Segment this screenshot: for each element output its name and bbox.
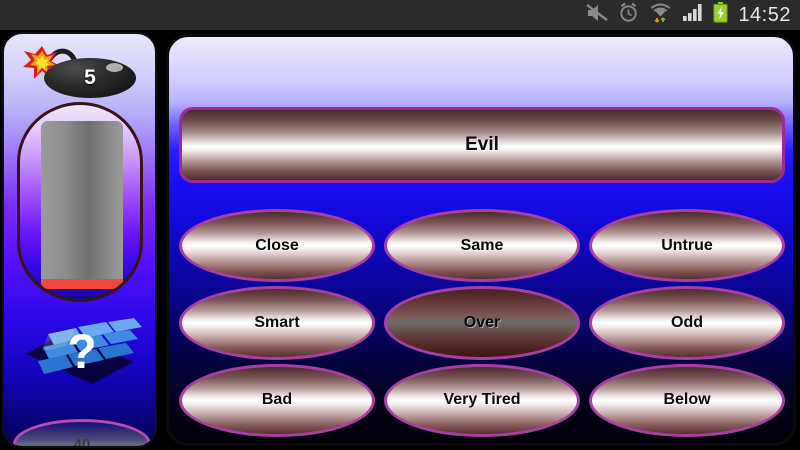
- bomb-icon: 5: [44, 58, 136, 98]
- answer-option-6[interactable]: Bad: [179, 364, 375, 437]
- answer-option-7[interactable]: Very Tired: [384, 364, 580, 437]
- game-sidebar: 5: [2, 32, 157, 448]
- prompt-word-bar: Evil: [179, 107, 785, 183]
- score-button[interactable]: 40: [13, 419, 151, 448]
- timer-remaining: [41, 279, 123, 289]
- svg-text:?: ?: [67, 326, 96, 379]
- hint-grid-question-icon[interactable]: ?: [22, 314, 142, 386]
- game-screen: 14:52 5: [0, 0, 800, 450]
- answer-label: Close: [255, 237, 299, 255]
- android-status-bar: 14:52: [0, 0, 800, 30]
- answer-option-2[interactable]: Untrue: [589, 209, 785, 282]
- status-icons: [586, 0, 728, 30]
- answer-label: Smart: [254, 314, 299, 332]
- quiz-panel: Evil Close Same Untrue Smart Over Odd Ba…: [166, 34, 796, 446]
- signal-bars-icon: [682, 3, 703, 27]
- answer-label: Very Tired: [443, 391, 520, 409]
- answer-label: Over: [464, 314, 500, 332]
- timer-container: [17, 102, 143, 302]
- bomb-counter: 5: [12, 40, 148, 102]
- prompt-word-label: Evil: [465, 134, 499, 156]
- score-label: 40: [74, 436, 91, 449]
- timer-bar: [41, 121, 123, 289]
- answer-label: Odd: [671, 314, 703, 332]
- answer-option-5[interactable]: Odd: [589, 286, 785, 359]
- battery-charging-icon: [713, 2, 728, 28]
- answer-option-1[interactable]: Same: [384, 209, 580, 282]
- answer-options-grid: Close Same Untrue Smart Over Odd Bad Ver…: [179, 209, 785, 437]
- wifi-icon: [649, 2, 672, 28]
- answer-label: Bad: [262, 391, 292, 409]
- answer-label: Untrue: [661, 237, 713, 255]
- alarm-clock-icon: [618, 2, 639, 28]
- answer-label: Below: [663, 391, 710, 409]
- mute-icon: [586, 3, 608, 28]
- status-bar-clock: 14:52: [738, 0, 791, 30]
- bomb-count-label: 5: [44, 58, 136, 98]
- answer-option-8[interactable]: Below: [589, 364, 785, 437]
- timer-fill: [41, 121, 123, 279]
- answer-option-4[interactable]: Over: [384, 286, 580, 359]
- answer-option-3[interactable]: Smart: [179, 286, 375, 359]
- answer-label: Same: [461, 237, 504, 255]
- answer-option-0[interactable]: Close: [179, 209, 375, 282]
